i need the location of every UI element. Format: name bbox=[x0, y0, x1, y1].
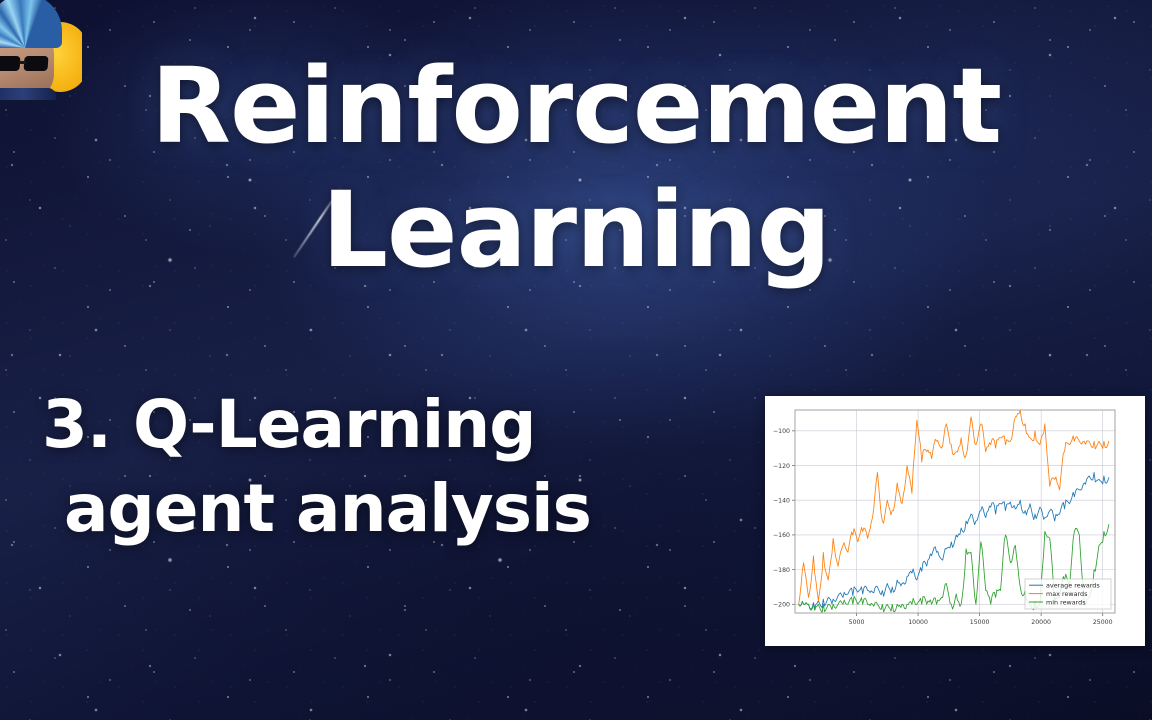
sunglasses-icon bbox=[0, 56, 52, 71]
svg-text:10000: 10000 bbox=[908, 619, 928, 626]
reward-chart-svg: −100−120−140−160−180−200 500010000150002… bbox=[765, 396, 1145, 646]
sunglasses-right-lens bbox=[23, 56, 48, 71]
subtitle-block: 3. Q-Learning agent analysis bbox=[42, 392, 722, 542]
title-line-primary: Reinforcement bbox=[0, 58, 1152, 156]
svg-text:−180: −180 bbox=[773, 567, 790, 574]
svg-text:average rewards: average rewards bbox=[1046, 582, 1100, 590]
presenter-avatar bbox=[0, 0, 82, 100]
svg-text:−120: −120 bbox=[773, 463, 790, 470]
svg-text:−200: −200 bbox=[773, 602, 790, 609]
svg-text:20000: 20000 bbox=[1031, 619, 1051, 626]
svg-text:min rewards: min rewards bbox=[1046, 598, 1086, 606]
slide-canvas: Reinforcement Learning 3. Q-Learning age… bbox=[0, 0, 1152, 720]
svg-text:5000: 5000 bbox=[849, 619, 865, 626]
avatar-hair bbox=[0, 0, 62, 48]
svg-text:25000: 25000 bbox=[1093, 619, 1113, 626]
svg-text:−140: −140 bbox=[773, 498, 790, 505]
avatar-shirt bbox=[0, 88, 56, 100]
subtitle-line-1: 3. Q-Learning bbox=[42, 392, 722, 458]
svg-text:15000: 15000 bbox=[970, 619, 990, 626]
subtitle-line-2: agent analysis bbox=[64, 476, 722, 542]
chart-legend[interactable]: average rewardsmax rewardsmin rewards bbox=[1025, 579, 1111, 609]
headline: Reinforcement Learning bbox=[0, 58, 1152, 280]
shooting-star-streak bbox=[293, 185, 343, 257]
svg-text:−100: −100 bbox=[773, 428, 790, 435]
sunglasses-left-lens bbox=[0, 56, 21, 71]
svg-text:max rewards: max rewards bbox=[1046, 590, 1088, 598]
sunglasses-bridge bbox=[19, 61, 26, 64]
reward-chart-card: −100−120−140−160−180−200 500010000150002… bbox=[765, 396, 1145, 646]
title-line-secondary: Learning bbox=[0, 182, 1152, 280]
reward-chart: −100−120−140−160−180−200 500010000150002… bbox=[765, 396, 1145, 646]
svg-text:−160: −160 bbox=[773, 532, 790, 539]
